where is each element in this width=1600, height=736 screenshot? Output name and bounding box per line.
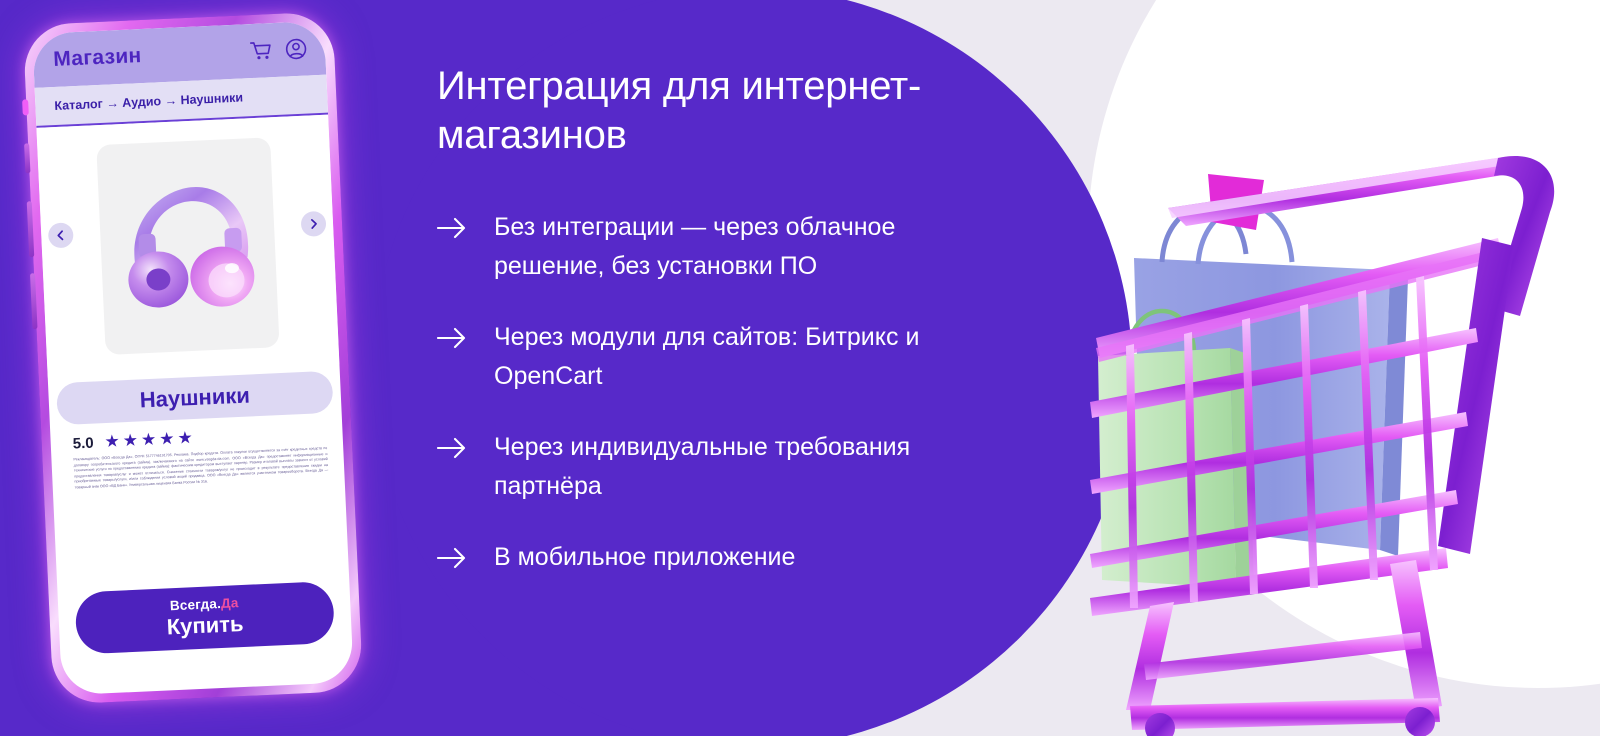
list-item: Через модули для сайтов: Битрикс и OpenC… bbox=[437, 318, 1017, 397]
product-name-pill: Наушники bbox=[56, 371, 334, 425]
brand-logo-prefix: Всегда. bbox=[170, 596, 222, 613]
buy-button-label: Купить bbox=[166, 611, 244, 640]
list-item: Без интеграции — через облачное решение,… bbox=[437, 208, 1017, 287]
cart-icon[interactable] bbox=[250, 40, 273, 61]
rating-value: 5.0 bbox=[72, 434, 94, 452]
headphones-3d-image bbox=[110, 170, 266, 322]
gallery-next-button[interactable] bbox=[300, 211, 326, 237]
feature-list: Без интеграции — через облачное решение,… bbox=[437, 208, 1017, 578]
phone-mute-switch[interactable] bbox=[22, 99, 29, 115]
brand-logo-suffix: Да bbox=[221, 595, 239, 611]
banner-canvas: Интеграция для интернет-магазинов Без ин… bbox=[0, 0, 1600, 736]
arrow-right-icon bbox=[437, 215, 468, 241]
buy-button[interactable]: Всегда.Да Купить bbox=[75, 581, 336, 655]
shop-header-icons bbox=[250, 38, 308, 63]
arrow-right-icon bbox=[437, 545, 468, 571]
content-column: Интеграция для интернет-магазинов Без ин… bbox=[437, 62, 1017, 577]
arrow-right-icon bbox=[437, 435, 468, 461]
list-item: Через индивидуальные требования партнёра bbox=[437, 428, 1017, 507]
shopping-cart-3d-illustration bbox=[1090, 150, 1600, 736]
arrow-right-icon bbox=[437, 325, 468, 351]
list-item: В мобильное приложение bbox=[437, 538, 1017, 578]
product-name: Наушники bbox=[139, 382, 250, 413]
page-title: Интеграция для интернет-магазинов bbox=[437, 62, 977, 160]
list-item-label: Без интеграции — через облачное решение,… bbox=[494, 208, 986, 287]
rating-stars: ★★★★★ bbox=[104, 428, 196, 452]
list-item-label: Через модули для сайтов: Битрикс и OpenC… bbox=[494, 318, 986, 397]
phone-mockup: Магазин Каталог → Аудио → Наушники bbox=[23, 11, 364, 704]
shop-title: Магазин bbox=[53, 44, 142, 72]
brand-logo: Всегда.Да bbox=[170, 595, 239, 613]
product-image-card bbox=[96, 137, 279, 355]
legal-disclaimer: Рекламодатель: ООО «Всегда Да», ОГРН 517… bbox=[73, 446, 328, 491]
phone-screen: Магазин Каталог → Аудио → Наушники bbox=[32, 21, 354, 696]
breadcrumb-label: Каталог → Аудио → Наушники bbox=[54, 90, 243, 113]
gallery-prev-button[interactable] bbox=[48, 222, 74, 248]
list-item-label: В мобильное приложение bbox=[494, 538, 795, 578]
user-account-icon[interactable] bbox=[285, 38, 308, 61]
list-item-label: Через индивидуальные требования партнёра bbox=[494, 428, 986, 507]
product-gallery bbox=[36, 115, 339, 378]
